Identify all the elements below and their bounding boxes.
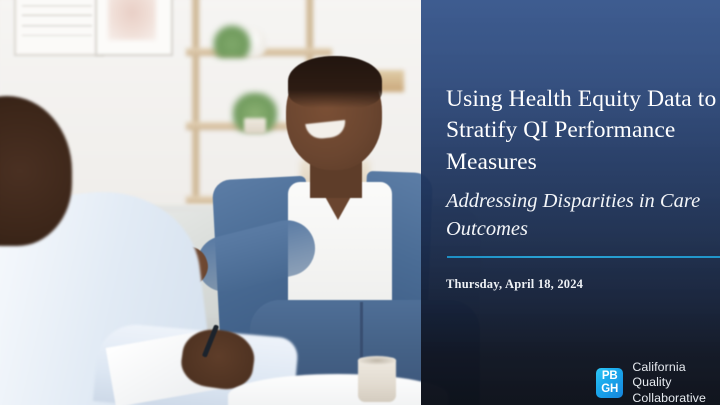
cqc-logo-text-line-2: Collaborative [632, 391, 720, 405]
pbgh-logo-mark: PB GH [596, 368, 623, 398]
slide-subtitle-line-2: Outcomes [446, 216, 720, 244]
pbgh-logo-line-1: PB [602, 371, 618, 383]
cqc-logo-text: California Quality Collaborative [632, 360, 720, 405]
cqc-logo-text-line-1: California Quality [632, 360, 720, 391]
title-panel: Using Health Equity Data to Stratify QI … [421, 0, 720, 405]
slide-subtitle-line-1: Addressing Disparities in Care [446, 188, 720, 216]
accent-divider [447, 256, 720, 258]
plant-pot [244, 118, 266, 134]
slide-date: Thursday, April 18, 2024 [446, 277, 583, 292]
title-panel-content: Using Health Equity Data to Stratify QI … [446, 0, 720, 405]
wall-art-right-print [108, 0, 156, 40]
wall-art-left-lettering [22, 2, 92, 44]
cqc-logo: PB GH California Quality Collaborative [596, 360, 720, 405]
slide-title-line-2: Stratify QI Performance [446, 115, 720, 146]
slide-title-line-1: Using Health Equity Data to [446, 84, 720, 115]
plant-upper [212, 24, 252, 58]
slide-subtitle: Addressing Disparities in Care Outcomes [446, 188, 720, 244]
coffee-mug-rim [358, 356, 396, 365]
slide-title: Using Health Equity Data to Stratify QI … [446, 84, 720, 178]
man-hair [288, 56, 382, 108]
pbgh-logo-line-2: GH [601, 384, 618, 396]
presentation-title-slide: Using Health Equity Data to Stratify QI … [0, 0, 720, 405]
slide-title-line-3: Measures [446, 147, 720, 178]
